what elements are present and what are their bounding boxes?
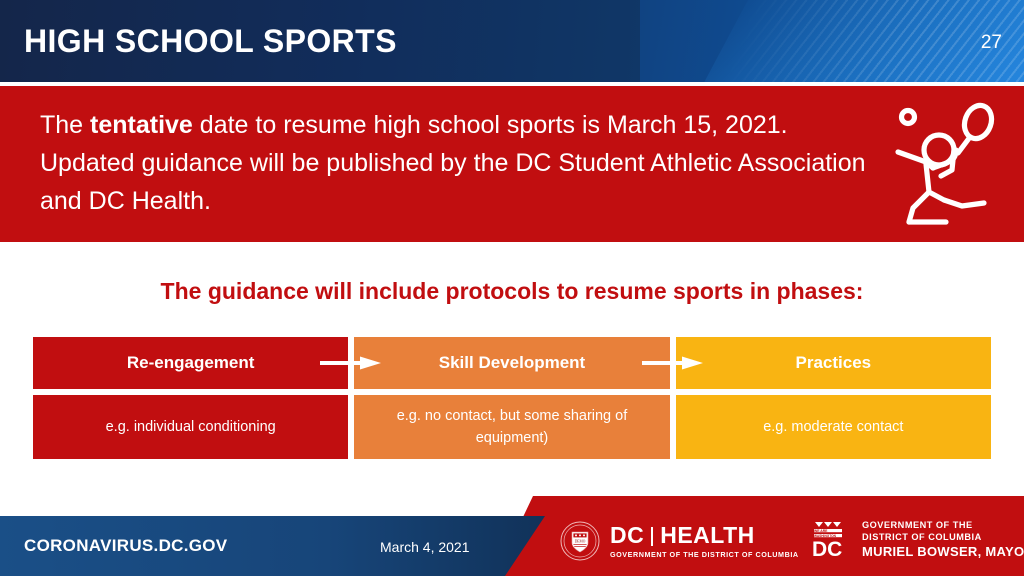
dc-health-wordmark-dc: DC: [610, 522, 644, 548]
coronavirus-website-link[interactable]: CORONAVIRUS.DC.GOV: [24, 536, 227, 556]
phase-body-skill-development: e.g. no contact, but some sharing of equ…: [354, 395, 669, 459]
phase-header-label: Skill Development: [439, 353, 585, 373]
dc-health-wordmark: DCHEALTH: [610, 522, 755, 548]
phases-header-row: Re-engagement Skill Development Practice…: [33, 337, 991, 389]
slide-date: March 4, 2021: [380, 539, 470, 555]
tennis-player-icon: [886, 100, 1006, 226]
dc-government-seal-icon: DEMO: [560, 521, 600, 561]
mayor-office-logo: WE ARE WASHINGTON DC GOVERNMENT OF THE D…: [812, 518, 1012, 564]
mayor-line-1: GOVERNMENT OF THE: [862, 520, 1024, 532]
phase-body-practices: e.g. moderate contact: [676, 395, 991, 459]
svg-text:DC: DC: [812, 538, 842, 560]
phase-header-practices: Practices: [676, 337, 991, 389]
phase-header-label: Re-engagement: [127, 353, 255, 373]
phase-body-label: e.g. moderate contact: [763, 416, 903, 438]
wordmark-divider: [651, 527, 653, 546]
highlight-banner: The tentative date to resume high school…: [0, 86, 1024, 242]
banner-text-part1: The: [40, 111, 90, 139]
section-subheading: The guidance will include protocols to r…: [0, 274, 1024, 308]
phase-header-re-engagement: Re-engagement: [33, 337, 348, 389]
page-title: HIGH SCHOOL SPORTS: [24, 22, 397, 60]
phase-body-label: e.g. no contact, but some sharing of equ…: [370, 405, 653, 449]
arrow-right-icon: [320, 356, 382, 370]
arrow-right-icon: [642, 356, 704, 370]
svg-text:WE ARE: WE ARE: [814, 529, 828, 533]
svg-text:DEMO: DEMO: [575, 540, 586, 544]
header-diagonal-stripes: [724, 0, 1024, 82]
mayor-line-3: MURIEL BOWSER, MAYOR: [862, 544, 1024, 560]
dc-flag-icon: WE ARE WASHINGTON DC: [812, 520, 858, 560]
banner-bold-word: tentative: [90, 111, 193, 139]
slide-header: HIGH SCHOOL SPORTS 27: [0, 0, 1024, 82]
phases-body-row: e.g. individual conditioning e.g. no con…: [33, 395, 991, 459]
banner-text: The tentative date to resume high school…: [40, 106, 870, 220]
phase-header-label: Practices: [796, 353, 872, 373]
phase-body-label: e.g. individual conditioning: [106, 416, 276, 438]
phase-body-re-engagement: e.g. individual conditioning: [33, 395, 348, 459]
dc-health-wordmark-health: HEALTH: [660, 522, 755, 548]
mayor-line-2: DISTRICT OF COLUMBIA: [862, 532, 1024, 544]
mayor-text-block: GOVERNMENT OF THE DISTRICT OF COLUMBIA M…: [862, 520, 1024, 560]
dc-health-subtitle: GOVERNMENT OF THE DISTRICT OF COLUMBIA: [610, 550, 799, 560]
phase-header-skill-development: Skill Development: [354, 337, 669, 389]
phases-table: Re-engagement Skill Development Practice…: [33, 337, 991, 459]
dc-health-logo: DEMO DCHEALTH GOVERNMENT OF THE DISTRICT…: [560, 516, 805, 564]
page-number: 27: [981, 32, 1002, 54]
presentation-slide: HIGH SCHOOL SPORTS 27 The tentative date…: [0, 0, 1024, 576]
